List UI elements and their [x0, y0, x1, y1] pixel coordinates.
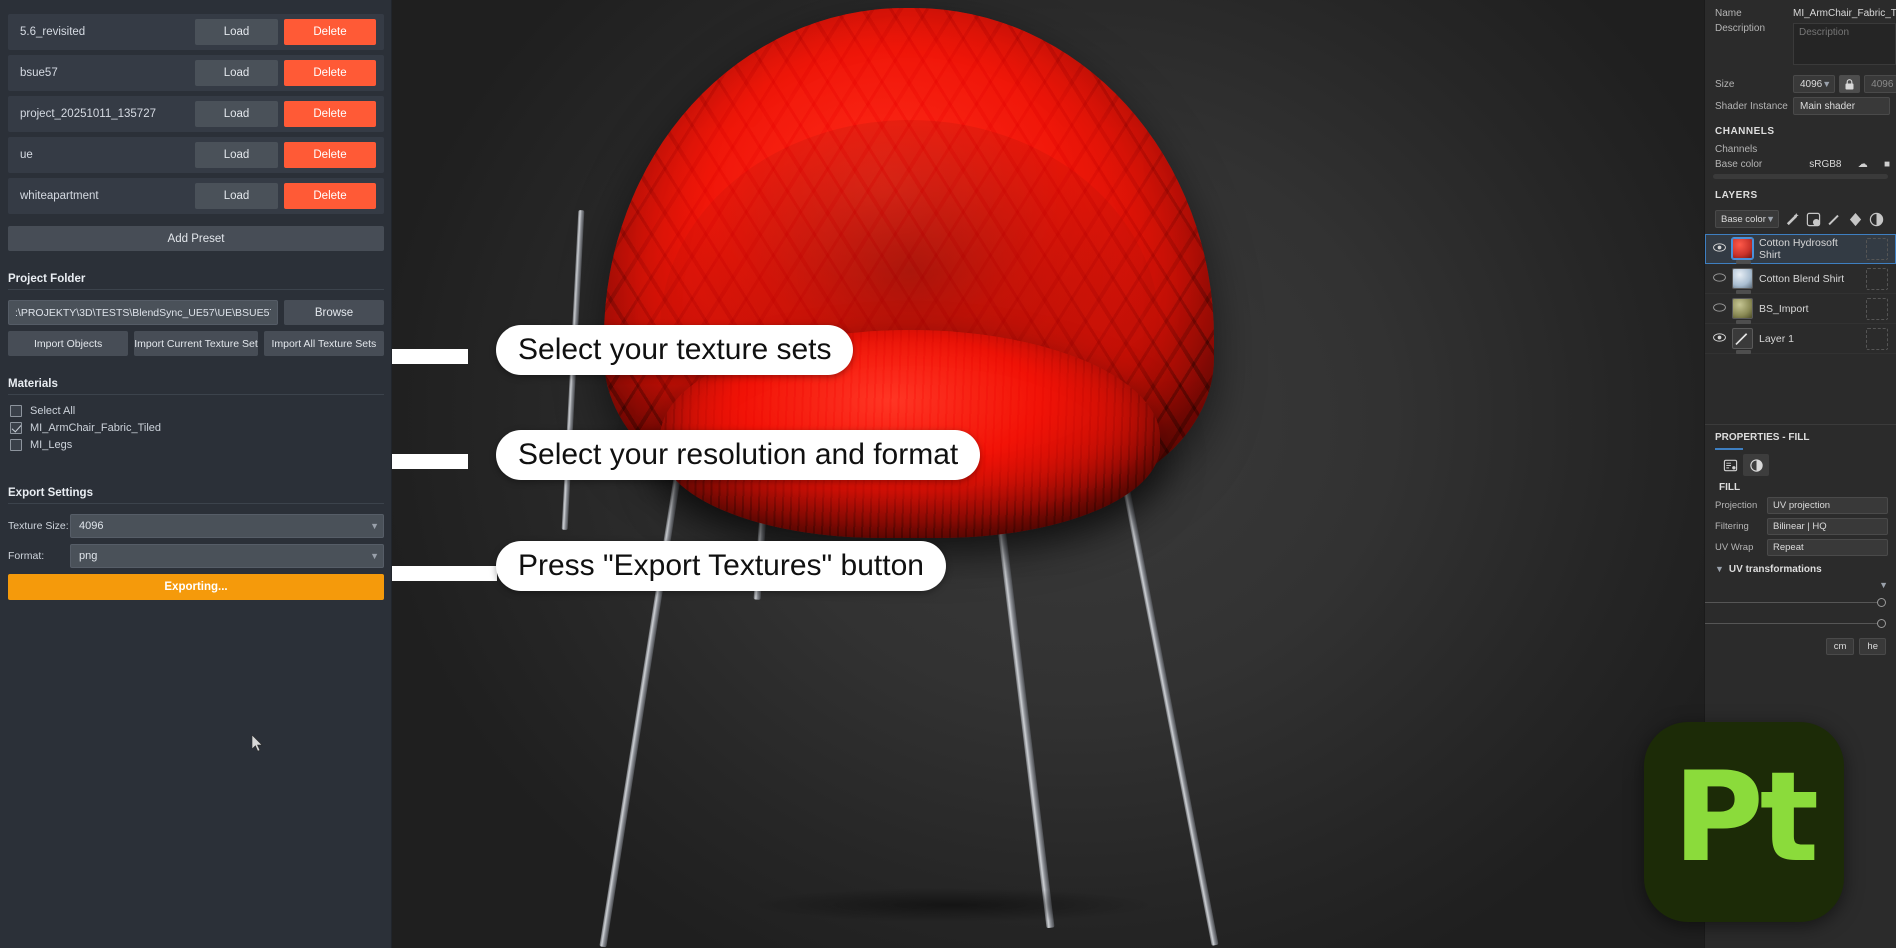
description-row: Description — [1705, 21, 1896, 67]
chevron-down-icon: ▼ — [1715, 565, 1724, 574]
preset-row[interactable]: whiteapartment Load Delete — [8, 178, 384, 214]
slider-knob[interactable] — [1877, 598, 1886, 607]
callout-text: Press "Export Textures" button — [518, 549, 924, 583]
preset-delete-button[interactable]: Delete — [284, 60, 376, 86]
preset-load-button[interactable]: Load — [195, 101, 278, 127]
projection-row: Projection UV projection — [1705, 495, 1896, 516]
import-current-texture-set-button[interactable]: Import Current Texture Set — [134, 331, 258, 356]
export-textures-button[interactable]: Exporting... — [8, 574, 384, 600]
layer-thumbnail[interactable] — [1732, 298, 1753, 319]
import-all-texture-sets-button[interactable]: Import All Texture Sets — [264, 331, 384, 356]
uv-wrap-row: UV Wrap Repeat — [1705, 537, 1896, 558]
grayscale-icon[interactable] — [1743, 454, 1769, 476]
texture-size-select[interactable]: 4096 ▼ — [70, 514, 384, 538]
layers-header: LAYERS — [1705, 181, 1896, 206]
projection-value: UV projection — [1773, 500, 1830, 511]
properties-header: PROPERTIES - FILL — [1705, 424, 1896, 448]
chevron-down-icon: ▼ — [1879, 581, 1888, 590]
add-fill-icon[interactable] — [1848, 212, 1863, 227]
layer-row[interactable]: BS_Import — [1705, 294, 1896, 324]
eye-hidden-icon[interactable] — [1713, 273, 1726, 285]
name-label: Name — [1715, 8, 1793, 19]
layers-channel-select[interactable]: Base color ▼ — [1715, 210, 1779, 228]
callout-export-button: Press "Export Textures" button — [496, 541, 946, 591]
preset-name: bsue57 — [8, 67, 195, 79]
preset-load-button[interactable]: Load — [195, 142, 278, 168]
preset-list: 5.6_revisited Load Delete bsue57 Load De… — [0, 14, 392, 214]
layer-thumbnail[interactable] — [1732, 328, 1753, 349]
callout-text: Select your texture sets — [518, 333, 831, 367]
eye-visible-icon[interactable] — [1713, 333, 1726, 345]
layer-thumbnail[interactable] — [1732, 268, 1753, 289]
fill-section-title: FILL — [1719, 482, 1740, 493]
chevron-down-icon: ▼ — [1822, 80, 1831, 89]
filtering-row: Filtering Bilinear | HQ — [1705, 516, 1896, 537]
size-label: Size — [1715, 79, 1793, 90]
horizontal-scrollbar[interactable] — [1713, 174, 1888, 179]
layer-thumbnail[interactable] — [1732, 238, 1753, 259]
channel-eraser-icon[interactable]: ■ — [1884, 159, 1890, 170]
eye-visible-icon[interactable] — [1713, 243, 1726, 255]
eye-hidden-icon[interactable] — [1713, 303, 1726, 315]
shader-instance-label: Shader Instance — [1715, 101, 1793, 112]
preset-name: 5.6_revisited — [8, 26, 195, 38]
lock-glyph — [1845, 79, 1854, 90]
plugin-panel: 5.6_revisited Load Delete bsue57 Load De… — [0, 0, 392, 948]
uv-slider-2[interactable] — [1705, 613, 1896, 634]
add-paint-layer-icon[interactable] — [1827, 212, 1842, 227]
callout-text: Select your resolution and format — [518, 438, 958, 472]
uv-subgroup-row[interactable]: ▼ — [1705, 579, 1896, 592]
preset-row[interactable]: project_20251011_135727 Load Delete — [8, 96, 384, 132]
material-row[interactable]: MI_Legs — [10, 439, 392, 451]
preset-name: project_20251011_135727 — [8, 108, 195, 120]
layers-empty-area[interactable] — [1705, 354, 1896, 424]
import-objects-button[interactable]: Import Objects — [8, 331, 128, 356]
texture-size-row: Texture Size: 4096 ▼ — [8, 514, 384, 538]
layer-opacity-bar — [1736, 350, 1751, 354]
material-label: MI_ArmChair_Fabric_Tiled — [30, 422, 161, 434]
material-label: MI_Legs — [30, 439, 72, 451]
shader-instance-select[interactable]: Main shader — [1793, 97, 1890, 115]
properties-tabs — [1705, 450, 1896, 480]
callout-arrow-shaft — [392, 454, 468, 469]
uv-wrap-select[interactable]: Repeat — [1767, 539, 1888, 556]
material-select-all-row[interactable]: Select All — [10, 405, 392, 417]
mouse-cursor-icon — [252, 735, 264, 753]
layer-name: Cotton Blend Shirt — [1759, 273, 1860, 285]
preset-name: whiteapartment — [8, 190, 195, 202]
materials-title: Materials — [8, 378, 384, 390]
callout-texture-sets: Select your texture sets — [496, 325, 853, 375]
uv-wrap-label: UV Wrap — [1715, 542, 1767, 553]
layers-toolbar: Base color ▼ — [1705, 206, 1896, 234]
channels-header: CHANNELS — [1705, 117, 1896, 142]
checkbox-unchecked-icon[interactable] — [10, 405, 22, 417]
layer-row[interactable]: Cotton Blend Shirt — [1705, 264, 1896, 294]
lock-icon[interactable] — [1839, 75, 1860, 93]
channel-label: Base color — [1715, 159, 1793, 170]
callout-arrow-shaft — [392, 566, 497, 581]
format-select[interactable]: png ▼ — [70, 544, 384, 568]
browse-button[interactable]: Browse — [284, 300, 384, 325]
chair-leg — [1112, 434, 1218, 946]
import-buttons: Import Objects Import Current Texture Se… — [8, 331, 384, 356]
format-label: Format: — [8, 550, 70, 562]
channel-format-value: sRGB8 — [1809, 159, 1841, 170]
layer-mask-slot[interactable] — [1866, 328, 1888, 350]
unit-chip-cm[interactable]: cm — [1826, 638, 1855, 655]
material-label: Select All — [30, 405, 75, 417]
chair-leg — [599, 433, 687, 948]
size-locked-value: 4096 — [1871, 79, 1893, 90]
texture-set-settings: Name MI_ArmChair_Fabric_Tiled Descriptio… — [1705, 0, 1896, 117]
description-label: Description — [1715, 23, 1793, 34]
layers-channel-value: Base color — [1721, 214, 1766, 225]
shader-instance-row: Shader Instance Main shader — [1705, 95, 1896, 117]
projection-select[interactable]: UV projection — [1767, 497, 1888, 514]
callout-arrow-shaft — [392, 349, 468, 364]
layer-name: Cotton Hydrosoft Shirt — [1759, 237, 1860, 261]
preset-load-button[interactable]: Load — [195, 60, 278, 86]
checkbox-checked-icon[interactable] — [10, 422, 22, 434]
channel-cloud-icon[interactable]: ☁ — [1858, 159, 1868, 170]
projection-label: Projection — [1715, 500, 1767, 511]
layer-mask-slot[interactable] — [1866, 298, 1888, 320]
chevron-down-icon: ▼ — [370, 552, 379, 561]
preset-delete-button[interactable]: Delete — [284, 101, 376, 127]
chevron-down-icon: ▼ — [1766, 215, 1775, 224]
channels-subtitle-row: Channels — [1705, 142, 1896, 157]
layer-name: BS_Import — [1759, 303, 1860, 315]
channels-subtitle: Channels — [1715, 144, 1793, 155]
texture-size-label: Texture Size: — [8, 520, 70, 532]
project-folder-title: Project Folder — [8, 273, 384, 285]
chevron-down-icon: ▼ — [370, 522, 379, 531]
name-row: Name MI_ArmChair_Fabric_Tiled — [1705, 6, 1896, 21]
project-folder-path-input[interactable] — [8, 300, 278, 325]
layer-row[interactable]: Layer 1 — [1705, 324, 1896, 354]
slider-track — [1705, 602, 1877, 603]
uv-transformations-group[interactable]: ▼ UV transformations — [1705, 558, 1896, 579]
texture-set-name-value: MI_ArmChair_Fabric_Tiled — [1793, 8, 1896, 19]
preset-row[interactable]: ue Load Delete — [8, 137, 384, 173]
magic-wand-icon[interactable] — [1785, 212, 1800, 227]
export-settings-title: Export Settings — [8, 487, 384, 499]
layer-mask-slot[interactable] — [1866, 238, 1888, 260]
fill-section-title-row: FILL — [1705, 480, 1896, 495]
materials-list: Select All MI_ArmChair_Fabric_Tiled MI_L… — [0, 405, 392, 451]
substance-painter-logo: Pt — [1644, 722, 1844, 922]
paint-brush-icon — [1733, 329, 1752, 348]
divider — [8, 394, 384, 395]
chair-shadow — [672, 880, 1232, 930]
preset-delete-button[interactable]: Delete — [284, 142, 376, 168]
uv-wrap-value: Repeat — [1773, 542, 1804, 553]
add-mask-icon[interactable] — [1869, 212, 1884, 227]
uv-slider-1[interactable] — [1705, 592, 1896, 613]
preset-row[interactable]: 5.6_revisited Load Delete — [8, 14, 384, 50]
size-value: 4096 — [1800, 79, 1822, 90]
add-fill-layer-icon[interactable] — [1806, 212, 1821, 227]
layers-list: Cotton Hydrosoft Shirt Cotton Blend Shir… — [1705, 234, 1896, 354]
preset-name: ue — [8, 149, 195, 161]
divider — [8, 289, 384, 290]
divider — [8, 503, 384, 504]
filtering-select[interactable]: Bilinear | HQ — [1767, 518, 1888, 535]
layer-row[interactable]: Cotton Hydrosoft Shirt — [1705, 234, 1896, 264]
unit-chip-he[interactable]: he — [1859, 638, 1886, 655]
format-row: Format: png ▼ — [8, 544, 384, 568]
layer-mask-slot[interactable] — [1866, 268, 1888, 290]
slider-track — [1705, 623, 1877, 624]
preset-delete-button[interactable]: Delete — [284, 19, 376, 45]
add-preset-button[interactable]: Add Preset — [8, 226, 384, 251]
project-folder-row: Browse — [8, 300, 384, 325]
filtering-value: Bilinear | HQ — [1773, 521, 1827, 532]
format-value: png — [79, 550, 97, 562]
description-textarea[interactable] — [1793, 23, 1896, 65]
unit-chips: cm he — [1705, 634, 1896, 659]
size-row: Size 4096 ▼ 4096 — [1705, 67, 1896, 95]
layer-name: Layer 1 — [1759, 333, 1860, 345]
filtering-label: Filtering — [1715, 521, 1767, 532]
preset-delete-button[interactable]: Delete — [284, 183, 376, 209]
uv-transformations-label: UV transformations — [1729, 564, 1822, 575]
3d-viewport[interactable]: Select your texture sets Select your res… — [392, 0, 1704, 948]
preset-load-button[interactable]: Load — [195, 183, 278, 209]
channel-row-base-color[interactable]: Base color sRGB8 ☁ ■ — [1705, 157, 1896, 172]
shader-instance-value: Main shader — [1800, 101, 1855, 112]
material-row[interactable]: MI_ArmChair_Fabric_Tiled — [10, 422, 392, 434]
preset-row[interactable]: bsue57 Load Delete — [8, 55, 384, 91]
size-value-locked[interactable]: 4096 — [1864, 75, 1896, 93]
callout-resolution-format: Select your resolution and format — [496, 430, 980, 480]
checkbox-unchecked-icon[interactable] — [10, 439, 22, 451]
texture-size-value: 4096 — [79, 520, 103, 532]
size-select[interactable]: 4096 ▼ — [1793, 75, 1835, 93]
material-settings-icon[interactable] — [1717, 454, 1743, 476]
logo-text: Pt — [1673, 756, 1815, 880]
slider-knob[interactable] — [1877, 619, 1886, 628]
preset-load-button[interactable]: Load — [195, 19, 278, 45]
